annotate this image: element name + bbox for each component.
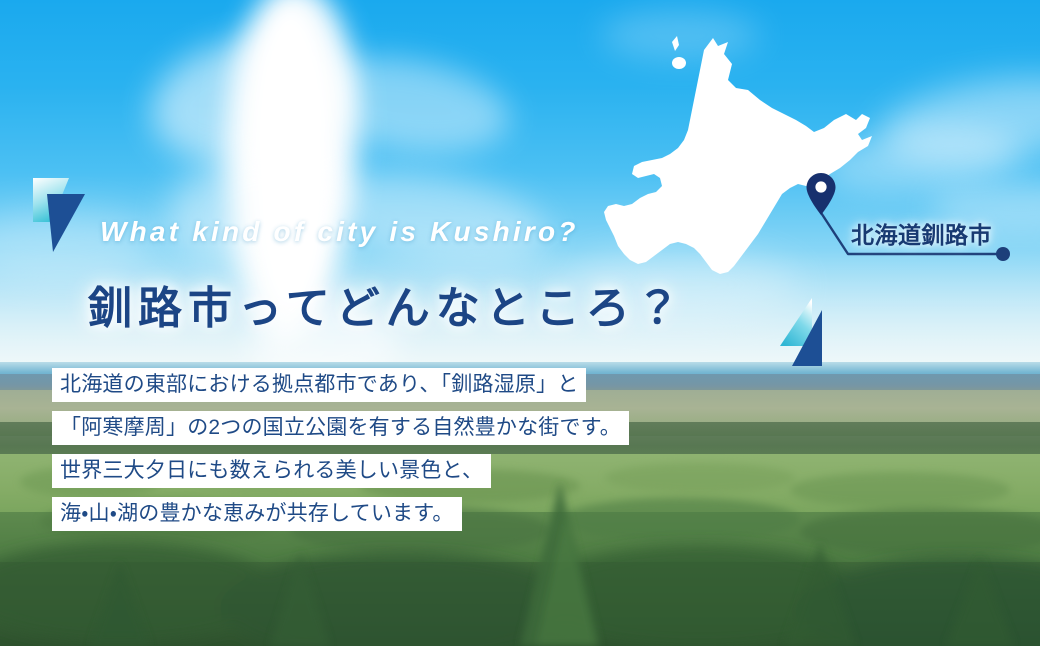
body-line: 北海道の東部における拠点都市であり、「釧路湿原」と [52,368,586,402]
body-line: 「阿寒摩周」の2つの国立公園を有する自然豊かな街です。 [52,411,629,445]
japanese-heading: 釧路市ってどんなところ？ [88,272,686,336]
body-line: 海・山・湖の豊かな恵みが共存しています。 [52,497,462,531]
body-text-block: 北海道の東部における拠点都市であり、「釧路湿原」と 「阿寒摩周」の2つの国立公園… [52,368,629,540]
kushiro-hero-banner: 北海道釧路市 [0,0,1040,646]
leader-end-dot [996,247,1010,261]
chevron-flag-left [33,178,91,256]
map-pin-icon [805,172,837,216]
chevron-flag-right [778,296,838,368]
english-heading: What kind of city is Kushiro? [100,216,579,248]
map-label: 北海道釧路市 [851,216,992,250]
body-line: 世界三大夕日にも数えられる美しい景色と、 [52,454,491,488]
